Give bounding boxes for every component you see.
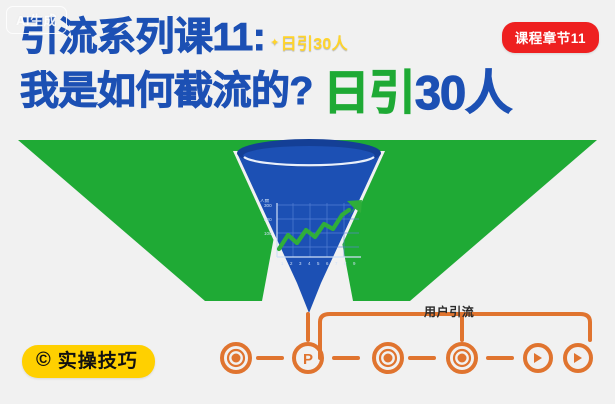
svg-text:P: P <box>303 351 313 368</box>
chapter-badge[interactable]: 课程章节11 <box>502 22 599 53</box>
headline-highlight-green: 日引 <box>323 69 415 117</box>
headline-line-1: 引流系列课11: <box>20 18 511 58</box>
headline-block: 引流系列课11: 我是如何截流的? 日引 30人 <box>20 18 511 112</box>
svg-text:9: 9 <box>353 261 356 266</box>
svg-text:1: 1 <box>281 261 284 266</box>
skill-badge-label: 实操技巧 <box>58 352 138 371</box>
svg-text:4: 4 <box>308 261 311 266</box>
svg-text:5: 5 <box>317 261 320 266</box>
svg-text:6: 6 <box>326 261 329 266</box>
flow-label: 用户引流 <box>424 303 474 320</box>
skill-badge[interactable]: © 实操技巧 <box>22 345 155 378</box>
growth-line-chart: 300 200 100 人数 123 456 789 <box>255 199 365 277</box>
poster-canvas: AI生成 ✦日引30人 <box>0 0 615 404</box>
svg-text:200: 200 <box>264 217 272 222</box>
headline-line-2: 我是如何截流的? 日引 30人 <box>20 64 511 112</box>
headline-text-2: 我是如何截流的? <box>20 72 313 112</box>
headline-text-1: 引流系列课11: <box>20 18 265 58</box>
svg-text:7: 7 <box>335 261 338 266</box>
svg-text:8: 8 <box>344 261 347 266</box>
svg-text:3: 3 <box>299 261 302 266</box>
svg-text:2: 2 <box>290 261 293 266</box>
svg-text:300: 300 <box>264 203 272 208</box>
headline-highlight-blue: 30人 <box>415 69 511 117</box>
copyright-icon: © <box>36 350 51 370</box>
svg-text:100: 100 <box>264 231 272 236</box>
